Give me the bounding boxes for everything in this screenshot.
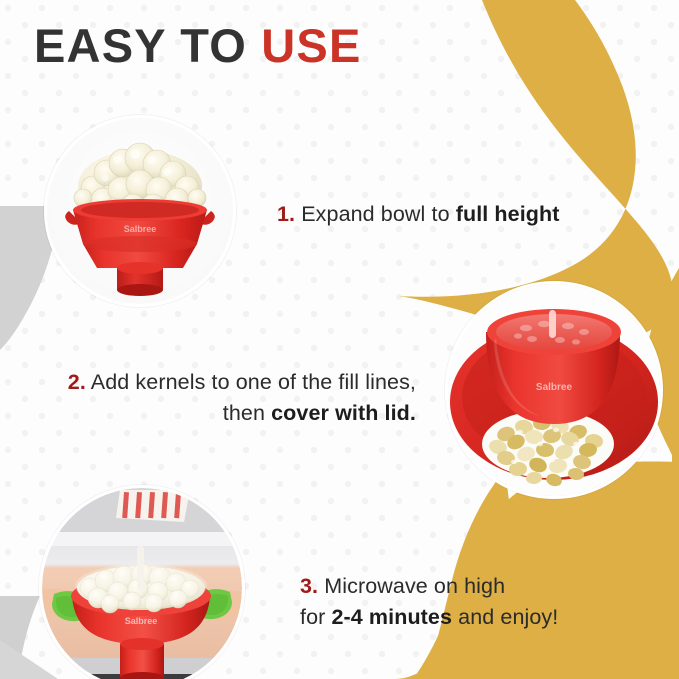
photo-expanded-bowl-art: Salbree (47, 118, 233, 304)
photo-expanded-bowl: Salbree (47, 118, 233, 304)
step-1-text: 1. Expand bowl to full height (277, 199, 560, 230)
step-1-bold: full height (456, 202, 560, 226)
brand-label-photo2: Salbree (536, 382, 573, 393)
step-2-line2-bold: cover with lid. (271, 401, 416, 425)
step-1-number: 1. (277, 202, 295, 226)
lid-vent-handle (549, 310, 556, 338)
step-3-line1: Microwave on high (324, 574, 505, 598)
photo-microwave-removal-art: Salbree (42, 488, 242, 679)
brand-label-photo3: Salbree (125, 616, 158, 626)
lid-vent-handle (137, 546, 144, 590)
page-title-plain: EASY TO (34, 19, 261, 72)
step-3-number: 3. (300, 574, 318, 598)
step-2-line1: Add kernels to one of the fill (91, 370, 359, 394)
step-3-line2-bold: 2-4 minutes (331, 605, 452, 629)
step-3-line2-suffix: and enjoy! (452, 605, 558, 629)
popcorn-bag-cloth (116, 490, 190, 522)
page-title: EASY TO USE (34, 22, 362, 69)
step-2-number: 2. (68, 370, 86, 394)
page-title-accent: USE (261, 19, 361, 72)
step-1-normal: Expand bowl to (301, 202, 456, 226)
infographic-canvas: EASY TO USE (0, 0, 679, 679)
step-2-text: 2. Add kernels to one of the fill lines,… (64, 367, 416, 428)
photo-bowl-with-kernels-art: Salbree (448, 284, 660, 496)
brand-label-photo1: Salbree (124, 224, 157, 234)
photo-bowl-with-kernels: Salbree (448, 284, 660, 496)
photo-microwave-removal: Salbree (42, 488, 242, 679)
step-3-text: 3. Microwave on high for 2-4 minutes and… (300, 571, 630, 632)
step-3-line2-prefix: for (300, 605, 331, 629)
